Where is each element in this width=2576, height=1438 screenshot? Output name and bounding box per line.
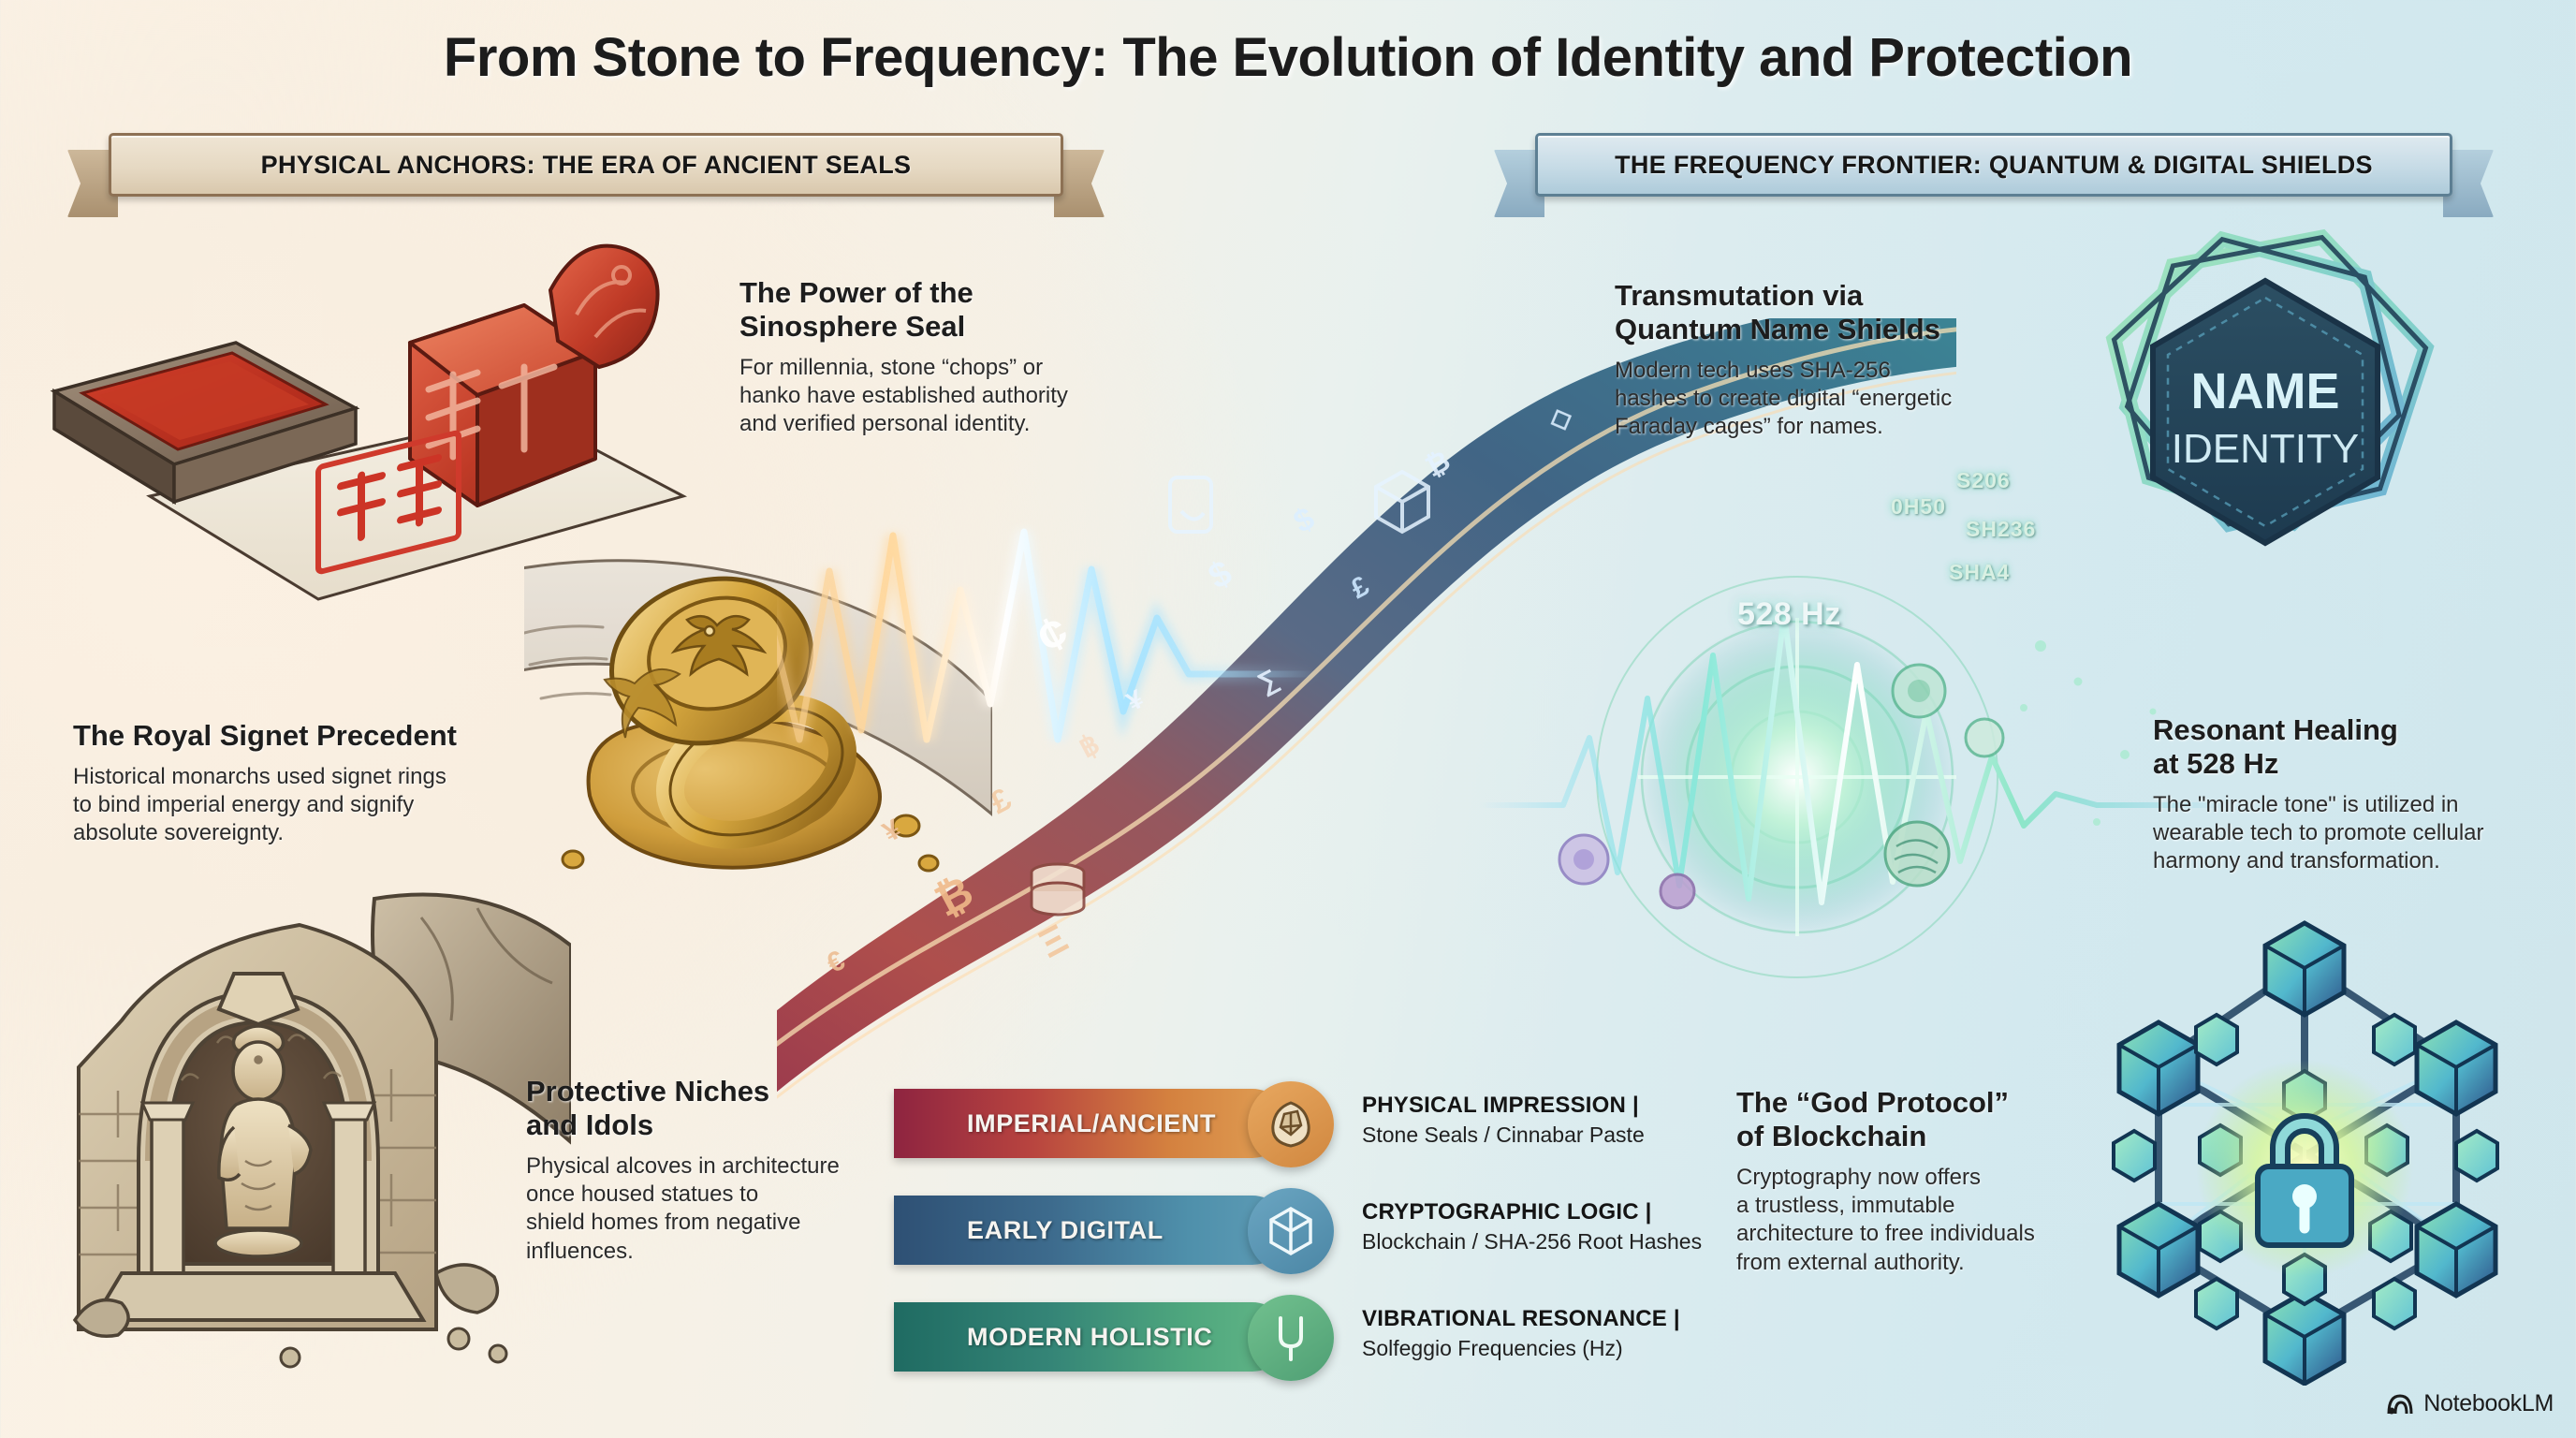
callout-body: For millennia, stone “chops” or hanko ha… (739, 354, 1114, 439)
callout-god-protocol: The “God Protocol” of Blockchain Cryptog… (1736, 1086, 2101, 1277)
banner-frequency-frontier: THE FREQUENCY FRONTIER: QUANTUM & DIGITA… (1535, 133, 2452, 197)
tuning-fork-icon (1248, 1295, 1334, 1381)
svg-text:¥: ¥ (878, 814, 907, 848)
notebooklm-logo-icon (2386, 1392, 2414, 1416)
legend-era-label: EARLY DIGITAL (967, 1216, 1164, 1245)
callout-body: The "miracle tone" is utilized in wearab… (2153, 791, 2490, 876)
protective-niche-illustration (66, 880, 571, 1404)
frequency-label-528hz: 528 Hz (1737, 596, 1841, 633)
svg-text:Ξ: Ξ (1032, 916, 1075, 966)
blockchain-lock-network (2069, 899, 2574, 1386)
svg-text:£: £ (985, 782, 1017, 821)
svg-text:$: $ (1288, 501, 1321, 540)
callout-protective-niches: Protective Niches and Idols Physical alc… (526, 1075, 891, 1266)
callout-heading: Resonant Healing at 528 Hz (2153, 713, 2490, 781)
hash-label-sha4: SHA4 (1949, 560, 2010, 585)
legend-text-modern-holistic: VIBRATIONAL RESONANCE | Solfeggio Freque… (1362, 1306, 1980, 1361)
banner-left-label: PHYSICAL ANCHORS: THE ERA OF ANCIENT SEA… (109, 133, 1063, 197)
callout-heading: The “God Protocol” of Blockchain (1736, 1086, 2101, 1153)
legend-subtitle: Solfeggio Frequencies (Hz) (1362, 1336, 1980, 1361)
callout-sinosphere-seal: The Power of the Sinosphere Seal For mil… (739, 276, 1114, 439)
svg-text:฿: ฿ (1075, 728, 1105, 764)
svg-text:$: $ (1203, 553, 1238, 597)
legend-bar-imperial: IMPERIAL/ANCIENT (894, 1089, 1287, 1158)
callout-heading: The Power of the Sinosphere Seal (739, 276, 1114, 344)
stone-icon (1248, 1081, 1334, 1167)
callout-body: Historical monarchs used signet rings to… (73, 763, 541, 848)
shield-name-line1: NAME (2191, 363, 2340, 419)
hash-label-0h50: 0H50 (1891, 494, 1946, 520)
callout-heading: The Royal Signet Precedent (73, 719, 541, 753)
legend-era-label: MODERN HOLISTIC (967, 1323, 1213, 1352)
callout-body: Physical alcoves in architecture once ho… (526, 1152, 891, 1266)
legend-era-label: IMPERIAL/ANCIENT (967, 1109, 1216, 1138)
callout-quantum-name-shields: Transmutation via Quantum Name Shields M… (1615, 279, 2008, 442)
shield-name-line2: IDENTITY (2172, 426, 2359, 472)
callout-royal-signet: The Royal Signet Precedent Historical mo… (73, 719, 541, 848)
callout-resonant-healing: Resonant Healing at 528 Hz The "miracle … (2153, 713, 2490, 876)
page-title: From Stone to Frequency: The Evolution o… (0, 26, 2576, 89)
banner-right-label: THE FREQUENCY FRONTIER: QUANTUM & DIGITA… (1535, 133, 2452, 197)
notebooklm-watermark: NotebookLM (2386, 1390, 2554, 1417)
callout-body: Modern tech uses SHA-256 hashes to creat… (1615, 357, 2008, 442)
legend-bar-modern-holistic: MODERN HOLISTIC (894, 1302, 1287, 1372)
callout-heading: Transmutation via Quantum Name Shields (1615, 279, 2008, 346)
legend-row-modern-holistic[interactable]: MODERN HOLISTIC VIBRATIONAL RESONANCE | … (894, 1295, 2017, 1385)
watermark-label: NotebookLM (2423, 1390, 2554, 1417)
hash-label-s206: S206 (1956, 468, 2011, 493)
legend-title: VIBRATIONAL RESONANCE | (1362, 1306, 1980, 1332)
cube-icon (1248, 1188, 1334, 1274)
hash-label-sh236: SH236 (1966, 517, 2036, 542)
legend-bar-early-digital: EARLY DIGITAL (894, 1196, 1287, 1265)
callout-body: Cryptography now offers a trustless, imm… (1736, 1164, 2101, 1277)
callout-heading: Protective Niches and Idols (526, 1075, 891, 1142)
banner-physical-anchors: PHYSICAL ANCHORS: THE ERA OF ANCIENT SEA… (109, 133, 1063, 197)
